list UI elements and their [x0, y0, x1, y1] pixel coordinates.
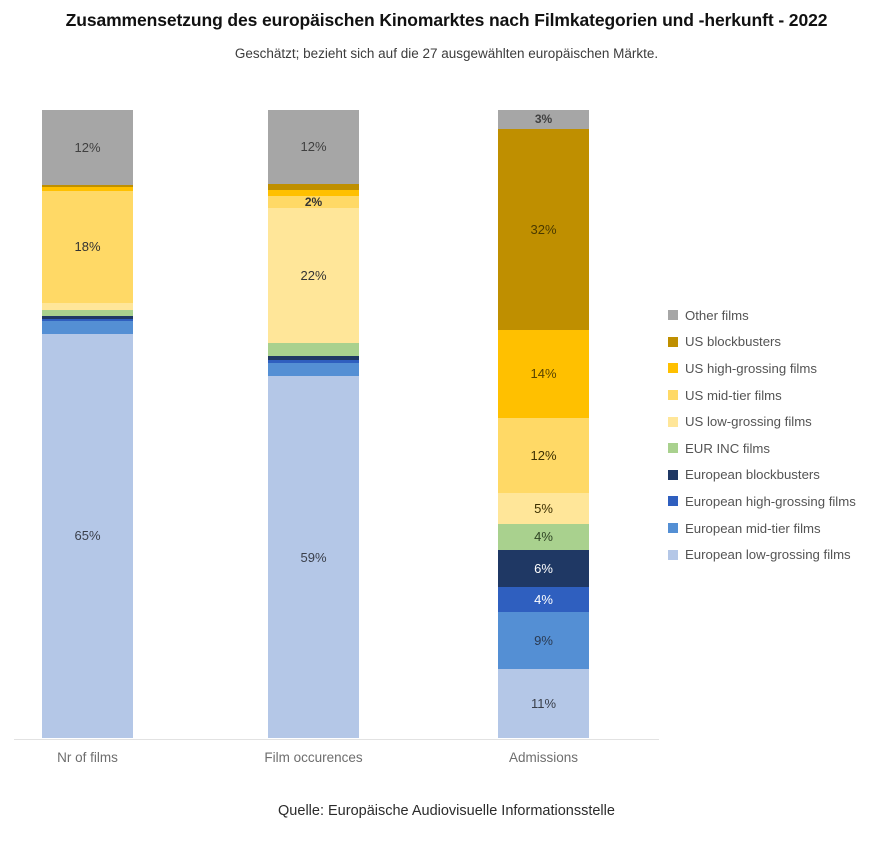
legend-item-label: EUR INC films — [685, 441, 770, 456]
x-axis-tick-label: Nr of films — [0, 750, 188, 765]
segment-value-label: 14% — [530, 367, 556, 380]
legend-swatch-icon — [668, 443, 678, 453]
bar-segment: 12% — [268, 110, 359, 184]
bar-segment — [268, 343, 359, 356]
legend-item-label: European blockbusters — [685, 467, 820, 482]
segment-value-label: 9% — [534, 634, 553, 647]
bar-segment: 59% — [268, 376, 359, 737]
segment-value-label: 65% — [74, 529, 100, 542]
bar-segment — [268, 363, 359, 376]
legend-item-label: US low-grossing films — [685, 414, 812, 429]
segment-value-label: 2% — [305, 196, 322, 208]
source-caption: Quelle: Europäische Audiovisuelle Inform… — [0, 803, 893, 819]
legend-swatch-icon — [668, 363, 678, 373]
bar-segment: 18% — [42, 191, 133, 303]
segment-value-label: 4% — [534, 593, 553, 606]
bar-segment: 32% — [498, 129, 589, 330]
bar-segment: 12% — [498, 418, 589, 493]
bar-segment: 14% — [498, 330, 589, 418]
legend-swatch-icon — [668, 470, 678, 480]
legend-swatch-icon — [668, 496, 678, 506]
stacked-bar: 12%2%22%59% — [268, 110, 359, 738]
legend-swatch-icon — [668, 523, 678, 533]
segment-value-label: 22% — [300, 269, 326, 282]
legend-item[interactable]: European low-grossing films — [668, 541, 888, 568]
chart-legend: Other filmsUS blockbustersUS high-grossi… — [668, 302, 888, 568]
bar-segment — [42, 303, 133, 310]
legend-item-label: US blockbusters — [685, 334, 781, 349]
bar-segment: 9% — [498, 612, 589, 669]
bar-segment: 22% — [268, 208, 359, 343]
x-axis-line — [14, 739, 659, 740]
legend-item[interactable]: European high-grossing films — [668, 488, 888, 515]
segment-value-label: 4% — [534, 530, 553, 543]
segment-value-label: 5% — [534, 502, 553, 515]
legend-item[interactable]: EUR INC films — [668, 435, 888, 462]
stacked-bar: 3%32%14%12%5%4%6%4%9%11% — [498, 110, 589, 738]
x-axis-tick-label: Admissions — [444, 750, 644, 765]
legend-item-label: European high-grossing films — [685, 494, 856, 509]
legend-item[interactable]: European mid-tier films — [668, 515, 888, 542]
segment-value-label: 12% — [530, 449, 556, 462]
legend-item-label: US mid-tier films — [685, 388, 782, 403]
legend-item[interactable]: US high-grossing films — [668, 355, 888, 382]
segment-value-label: 59% — [300, 551, 326, 564]
bar-segment: 11% — [498, 669, 589, 738]
legend-swatch-icon — [668, 390, 678, 400]
legend-item[interactable]: European blockbusters — [668, 462, 888, 489]
legend-item[interactable]: US mid-tier films — [668, 382, 888, 409]
bar-segment: 4% — [498, 524, 589, 549]
bar-segment: 2% — [268, 196, 359, 208]
bar-segment: 6% — [498, 550, 589, 588]
bar-segment: 12% — [42, 110, 133, 185]
legend-swatch-icon — [668, 417, 678, 427]
segment-value-label: 12% — [300, 140, 326, 153]
bar-segment: 3% — [498, 110, 589, 129]
legend-item[interactable]: US low-grossing films — [668, 408, 888, 435]
segment-value-label: 6% — [534, 562, 553, 575]
segment-value-label: 32% — [530, 223, 556, 236]
segment-value-label: 18% — [74, 240, 100, 253]
bar-segment: 65% — [42, 334, 133, 738]
legend-item[interactable]: Other films — [668, 302, 888, 329]
legend-item-label: European mid-tier films — [685, 521, 821, 536]
stacked-bar: 12%18%65% — [42, 110, 133, 738]
x-axis-tick-label: Film occurences — [214, 750, 414, 765]
legend-item[interactable]: US blockbusters — [668, 329, 888, 356]
bar-segment: 4% — [498, 587, 589, 612]
bar-segment — [42, 321, 133, 333]
legend-swatch-icon — [668, 550, 678, 560]
segment-value-label: 3% — [535, 113, 552, 125]
legend-swatch-icon — [668, 337, 678, 347]
legend-item-label: European low-grossing films — [685, 547, 851, 562]
legend-item-label: US high-grossing films — [685, 361, 817, 376]
segment-value-label: 12% — [74, 141, 100, 154]
legend-item-label: Other films — [685, 308, 749, 323]
bar-segment: 5% — [498, 493, 589, 524]
segment-value-label: 11% — [531, 697, 556, 710]
legend-swatch-icon — [668, 310, 678, 320]
